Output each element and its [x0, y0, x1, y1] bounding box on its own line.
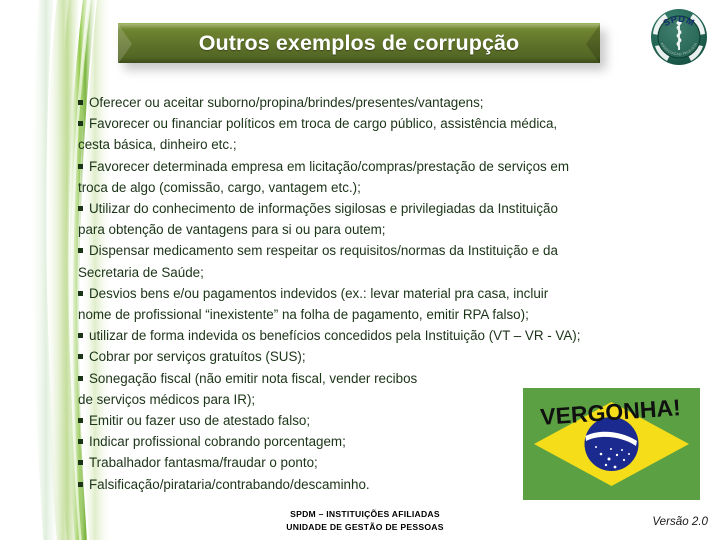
list-item: Desvios bens e/ou pagamentos indevidos (…: [78, 283, 700, 325]
bullet-text: Trabalhador fantasma/fraudar o ponto;: [89, 455, 318, 470]
square-bullet-icon: [78, 460, 83, 465]
list-item: Favorecer determinada empresa em licitaç…: [78, 156, 700, 198]
square-bullet-icon: [78, 248, 83, 253]
footer: SPDM – INSTITUIÇÕES AFILIADAS UNIDADE DE…: [0, 508, 720, 534]
bullet-text: Utilizar do conhecimento de informações …: [89, 201, 558, 216]
square-bullet-icon: [78, 291, 83, 296]
bullet-text: Falsificação/pirataria/contrabando/desca…: [89, 477, 370, 492]
bullet-text: Sonegação fiscal (não emitir nota fiscal…: [89, 371, 417, 386]
brazil-flag-vergonha-image: VERGONHA!: [523, 388, 700, 500]
spdm-logo: SPDM ASSOCIACAO PAULISTA: [647, 4, 711, 68]
bullet-text: Dispensar medicamento sem respeitar os r…: [89, 243, 558, 258]
slide-title-bar: Outros exemplos de corrupção: [118, 23, 600, 63]
footer-line-1: SPDM – INSTITUIÇÕES AFILIADAS: [0, 508, 720, 521]
bullet-text-cont: troca de algo (comissão, cargo, vantagem…: [78, 177, 700, 198]
page-title: Outros exemplos de corrupção: [118, 23, 600, 63]
bullet-text: utilizar de forma indevida os benefícios…: [89, 328, 580, 343]
square-bullet-icon: [78, 100, 83, 105]
square-bullet-icon: [78, 206, 83, 211]
bullet-text: Desvios bens e/ou pagamentos indevidos (…: [89, 286, 548, 301]
list-item: Oferecer ou aceitar suborno/propina/brin…: [78, 92, 700, 113]
bullet-text: Cobrar por serviços gratuítos (SUS);: [89, 349, 306, 364]
footer-line-2: UNIDADE DE GESTÃO DE PESSOAS: [0, 521, 720, 534]
square-bullet-icon: [78, 482, 83, 487]
square-bullet-icon: [78, 376, 83, 381]
square-bullet-icon: [78, 418, 83, 423]
bullet-text: Emitir ou fazer uso de atestado falso;: [89, 413, 310, 428]
bullet-text: Favorecer determinada empresa em licitaç…: [89, 159, 569, 174]
bullet-text-cont: Secretaria de Saúde;: [78, 262, 700, 283]
square-bullet-icon: [78, 354, 83, 359]
list-item: utilizar de forma indevida os benefícios…: [78, 325, 700, 346]
square-bullet-icon: [78, 333, 83, 338]
slide-canvas: Outros exemplos de corrupção: [0, 0, 720, 540]
square-bullet-icon: [78, 164, 83, 169]
bullet-text: Indicar profissional cobrando porcentage…: [89, 434, 346, 449]
bullet-text: Oferecer ou aceitar suborno/propina/brin…: [89, 95, 484, 110]
list-item: Cobrar por serviços gratuítos (SUS);: [78, 346, 700, 367]
bullet-text-cont: para obtenção de vantagens para si ou pa…: [78, 219, 700, 240]
square-bullet-icon: [78, 121, 83, 126]
square-bullet-icon: [78, 439, 83, 444]
list-item: Utilizar do conhecimento de informações …: [78, 198, 700, 240]
list-item: Favorecer ou financiar políticos em troc…: [78, 113, 700, 155]
version-label: Versão 2.0: [652, 515, 708, 528]
bullet-text-cont: cesta básica, dinheiro etc.;: [78, 134, 700, 155]
list-item: Dispensar medicamento sem respeitar os r…: [78, 240, 700, 282]
bullet-text-cont: nome de profissional “inexistente” na fo…: [78, 304, 700, 325]
bullet-text: Favorecer ou financiar políticos em troc…: [89, 116, 557, 131]
